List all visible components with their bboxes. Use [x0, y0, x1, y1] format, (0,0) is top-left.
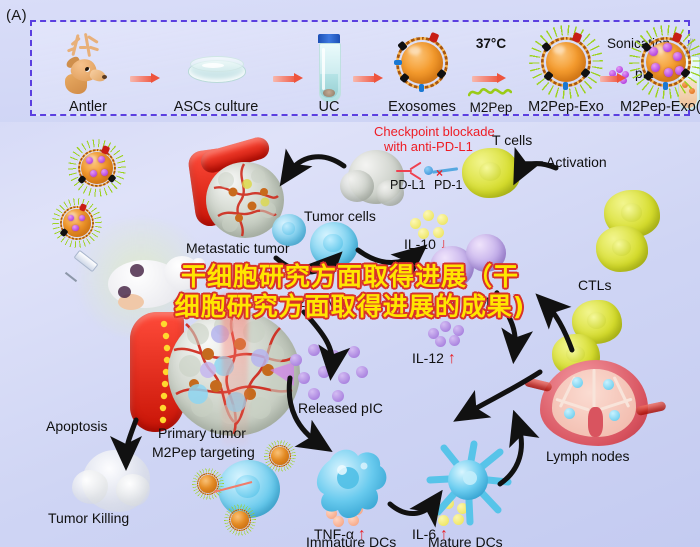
process-arrow — [273, 74, 303, 83]
stage-exosomes: Exosomes — [384, 28, 460, 114]
petri-dish-icon — [188, 54, 244, 84]
process-arrow — [472, 74, 506, 83]
temperature-label: 37°C — [476, 36, 506, 51]
figure-root: (A) — [0, 0, 700, 547]
peptide-label: M2Pep — [470, 100, 513, 115]
peptide-exosome-icon — [538, 34, 594, 90]
stage-caption: UC — [319, 99, 340, 115]
flow-arrows — [0, 122, 700, 547]
process-arrow — [600, 74, 626, 83]
exosome-icon — [393, 34, 451, 92]
stage-uc: UC — [306, 28, 352, 114]
stage-ascs-culture: ASCs culture — [162, 28, 270, 114]
centrifuge-tube-icon — [318, 34, 340, 100]
stage-antler: Antler — [50, 28, 126, 114]
loaded-exosome-icon — [638, 34, 694, 90]
stage-caption: Antler — [69, 99, 107, 115]
panel-b: Metastatic tumor Tumor cells Checkpoint … — [0, 122, 700, 547]
stage-caption: ASCs culture — [174, 99, 259, 115]
process-arrow — [130, 74, 160, 83]
process-arrow — [353, 74, 383, 83]
annotation-temperature-peptide: 37°C M2Pep — [460, 36, 522, 114]
stage-caption: Exosomes — [388, 99, 456, 115]
deer-icon — [57, 32, 119, 94]
peptide-squiggle-icon — [468, 86, 512, 99]
panel-a-label: (A) — [6, 7, 27, 24]
stage-m2pep-exo-pic: M2Pep-Exo(pIC) — [592, 26, 700, 114]
stage-caption: M2Pep-Exo(pIC) — [620, 99, 700, 115]
panel-a: (A) — [0, 0, 700, 122]
panel-a-dashed-border: Antler ASCs culture — [30, 20, 690, 116]
